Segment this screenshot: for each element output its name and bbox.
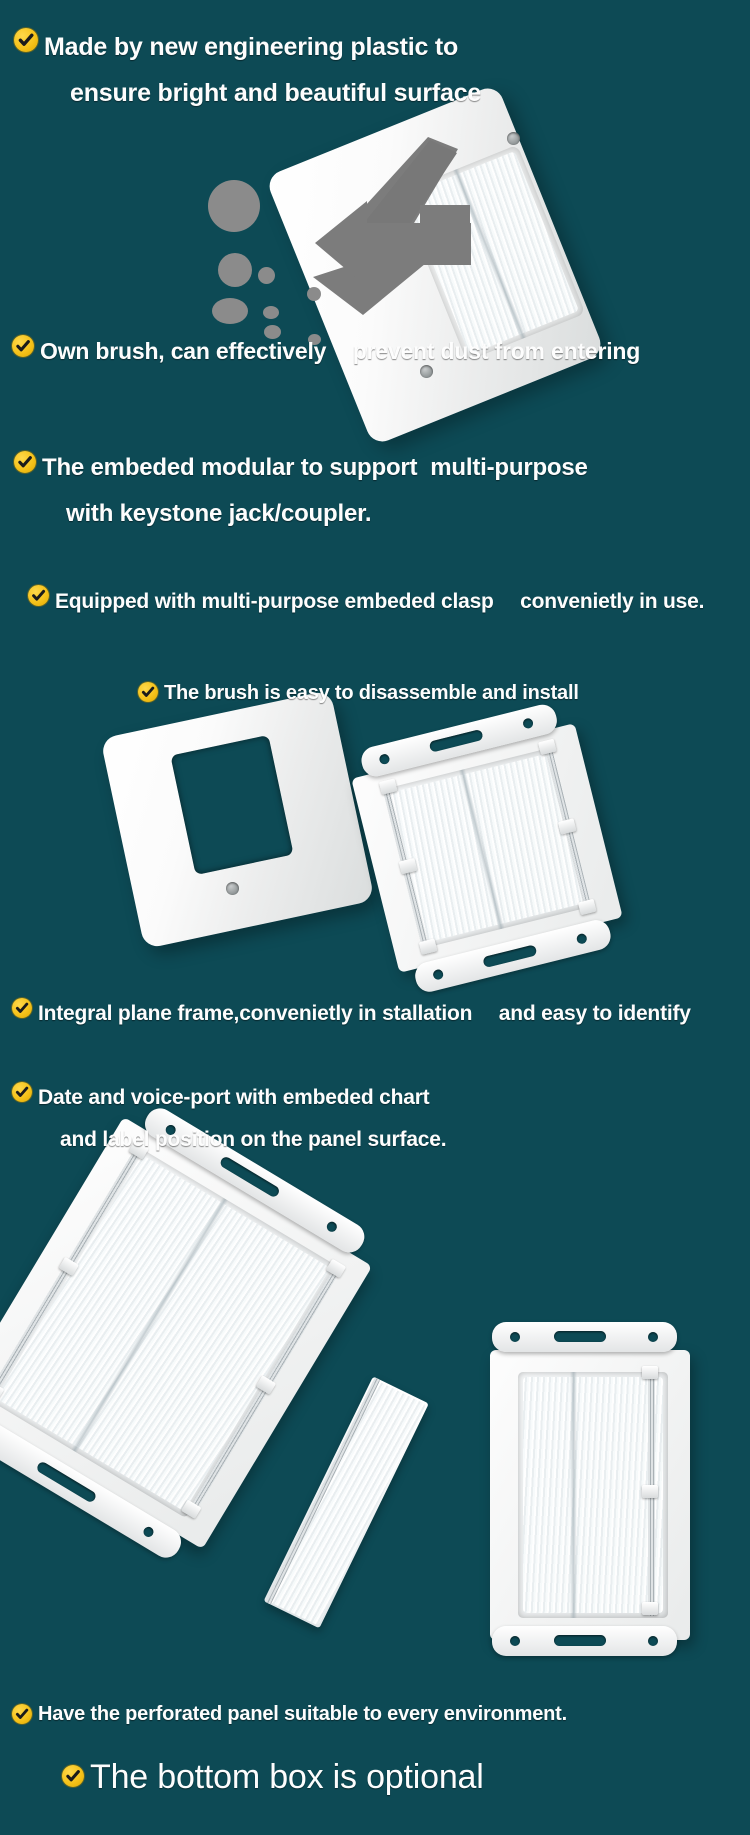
feature-line: ensure bright and beautiful surface [44, 79, 481, 107]
feature-brush-disassemble: The brush is easy to disassemble and ins… [138, 678, 579, 708]
detached-brush-strip [264, 1376, 429, 1628]
bristle-seam [570, 1372, 577, 1618]
feature-line: The embeded modular to support multi-pur… [42, 454, 588, 481]
module-clip [642, 1602, 658, 1615]
feature-line: The bottom box is optional [90, 1758, 484, 1796]
feature-line: The brush is easy to disassemble and ins… [164, 682, 579, 704]
dust-particle [212, 298, 248, 324]
feature-line: Integral plane frame,convenietly in stal… [38, 1002, 472, 1025]
feature-perforated-panel: Have the perforated panel suitable to ev… [12, 1700, 567, 1728]
check-circle-icon [14, 28, 38, 52]
mounting-ear-top [492, 1322, 677, 1352]
feature-line: prevent dust from entering [331, 338, 640, 364]
feature-line: Made by new engineering plastic to [44, 33, 458, 61]
check-circle-icon [62, 1765, 84, 1787]
screw-hole [226, 882, 239, 895]
feature-line: with keystone jack/coupler. [42, 500, 371, 527]
brush-module-exploded-photo [420, 1330, 690, 1660]
feature-line: Date and voice-port with embeded chart [38, 1086, 429, 1109]
check-circle-icon [12, 998, 32, 1018]
feature-line: and label position on the panel surface. [38, 1128, 446, 1151]
feature-integral-plane-frame: Integral plane frame,convenietly in stal… [12, 993, 691, 1035]
module-clip [642, 1485, 658, 1498]
check-circle-icon [14, 451, 36, 473]
feature-made-by-plastic: Made by new engineering plastic to ensur… [14, 24, 750, 116]
feature-line: convenietly in use. [498, 590, 704, 613]
feature-line: Have the perforated panel suitable to ev… [38, 1703, 567, 1725]
brush-module-angled-photo [0, 1117, 372, 1549]
blank-wall-plate-photo [120, 712, 370, 947]
feature-own-brush-dust: Own brush, can effectively prevent dust … [12, 330, 640, 373]
check-circle-icon [12, 1082, 32, 1102]
mounting-ear-bottom [492, 1626, 677, 1656]
feature-embeded-modular: The embeded modular to support multi-pur… [14, 445, 750, 537]
dust-particle [218, 253, 252, 287]
feature-line: Own brush, can effectively [40, 338, 326, 364]
module-clip [642, 1366, 658, 1379]
feature-embeded-clasp: Equipped with multi-purpose embeded clas… [28, 580, 704, 624]
dust-particle [258, 267, 275, 284]
dust-particle [208, 180, 260, 232]
feature-date-voice-port: Date and voice-port with embeded chart a… [12, 1077, 750, 1161]
feature-line: and easy to identify [477, 1002, 691, 1025]
check-circle-icon [12, 335, 34, 357]
brush-module-photo [351, 723, 623, 973]
check-circle-icon [28, 585, 49, 606]
check-circle-icon [12, 1704, 32, 1724]
feature-line: Equipped with multi-purpose embeded clas… [55, 590, 494, 613]
feature-bottom-box-optional: The bottom box is optional [62, 1755, 484, 1799]
airflow-arrow [275, 135, 515, 330]
check-circle-icon [138, 682, 158, 702]
